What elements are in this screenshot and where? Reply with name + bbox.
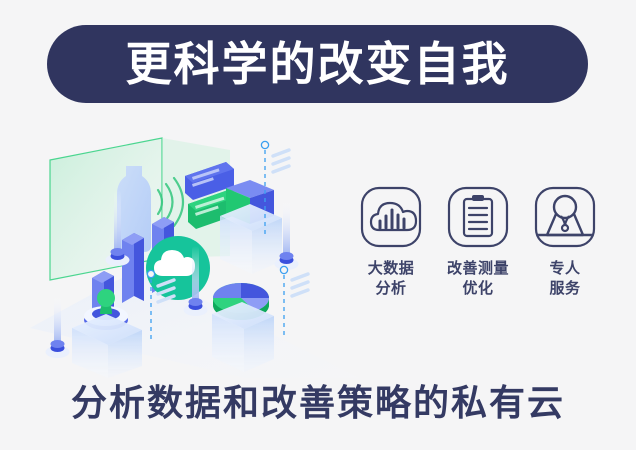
tagline: 分析数据和改善策略的私有云 [0,383,636,423]
feature-label-dedicated-service: 专人 服务 [549,259,580,299]
feature-label-line1: 大数据 [368,260,415,277]
cloud-bar-chart-icon [360,186,422,248]
dashed-line-3 [280,266,287,338]
feature-list: 大数据 分析 改善测量 [352,186,604,326]
feature-item-measurement-optimization: 改善测量 优化 [439,186,517,299]
feature-label-big-data-analysis: 大数据 分析 [368,259,415,299]
page-title: 更科学的改变自我 [126,41,510,87]
service-person-icon [534,186,596,248]
title-pill: 更科学的改变自我 [47,25,588,103]
promotional-banner: 更科学的改变自我 [0,0,636,450]
glass-pedestal-cube-right-top [220,204,282,274]
cloud-badge [146,236,210,300]
feature-item-big-data-analysis: 大数据 分析 [352,186,430,299]
feature-label-line2: 优化 [447,279,509,299]
feature-label-line2: 服务 [549,279,580,299]
feature-item-dedicated-service: 专人 服务 [526,186,604,299]
feature-label-line1: 专人 [549,260,580,277]
isometric-data-platform-illustration [30,128,360,378]
feature-label-measurement-optimization: 改善测量 优化 [447,259,509,299]
clipboard-icon [447,186,509,248]
feature-label-line1: 改善测量 [447,260,509,277]
feature-label-line2: 分析 [368,279,415,299]
